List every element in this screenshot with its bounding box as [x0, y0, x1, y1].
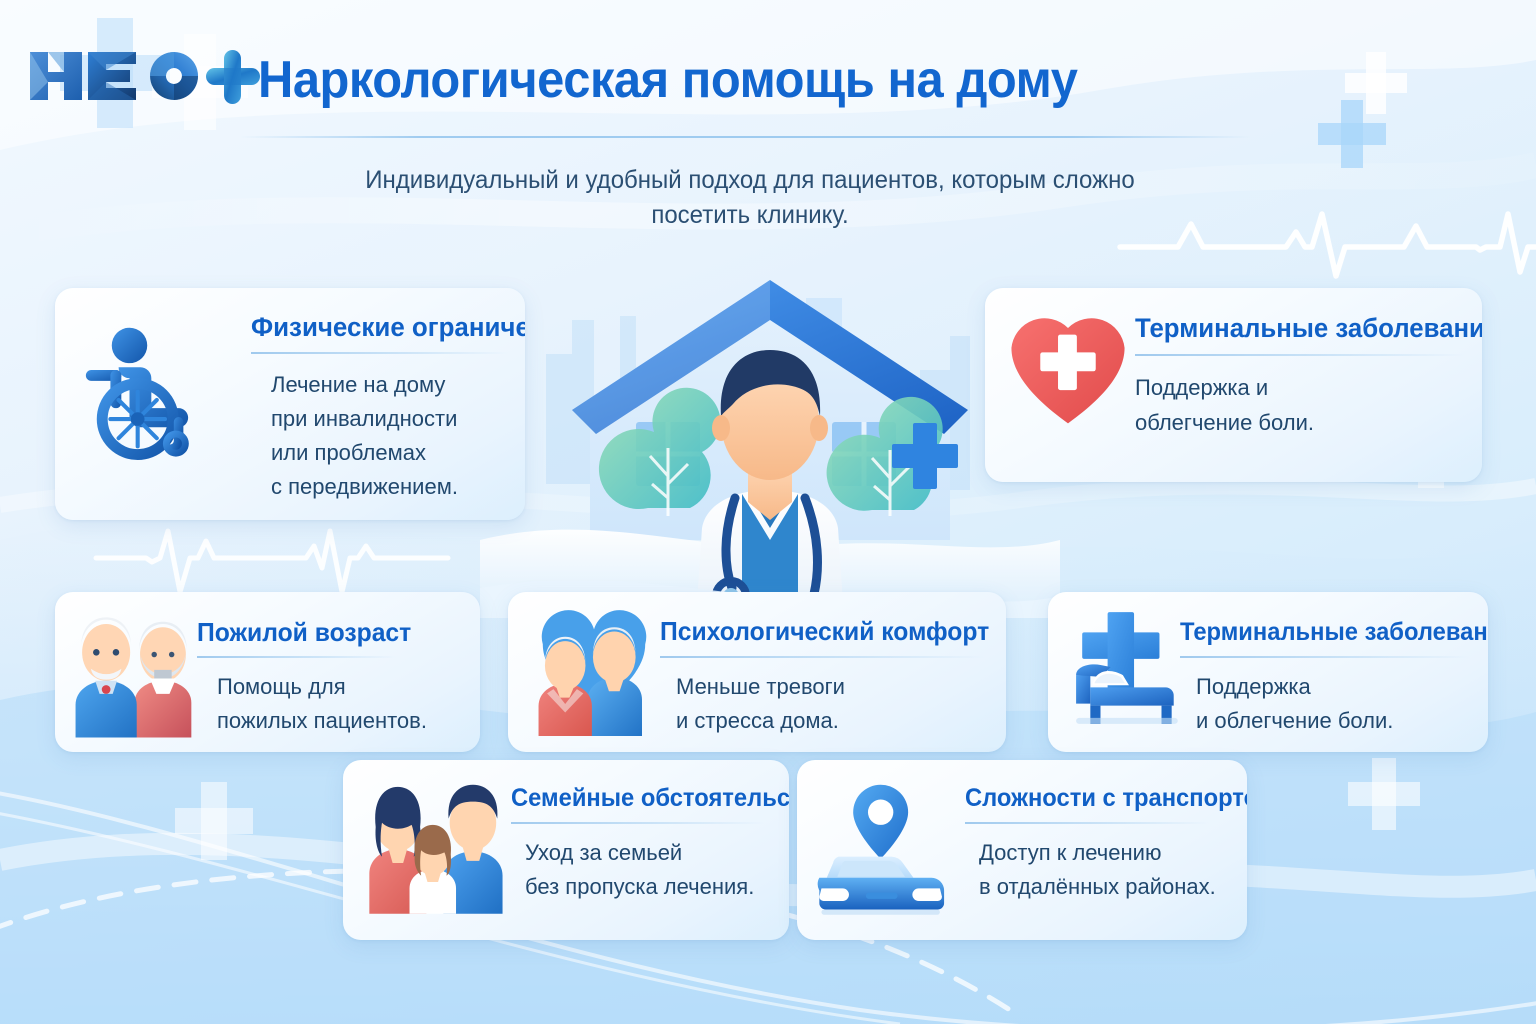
card-divider [197, 656, 397, 658]
page-title: Наркологическая помощь на дому [258, 50, 1077, 110]
card-body: Меньше тревоги и стресса дома. [676, 670, 845, 738]
card-title: Сложности с транспортом [965, 784, 1247, 813]
card-body: Лечение на дому при инвалидности или про… [271, 368, 458, 504]
elderly-couple-icon [69, 606, 211, 738]
card-divider [965, 822, 1209, 824]
hospital-bed-cross-icon [1070, 606, 1192, 730]
card-title: Терминальные заболевания [1180, 618, 1488, 647]
card-body: Поддержка и облегчение боли. [1135, 370, 1314, 440]
family-icon [363, 774, 511, 916]
card-divider [660, 656, 985, 658]
header-divider [240, 136, 1250, 138]
decor-cross-icon [1348, 758, 1420, 830]
wheelchair-icon [77, 310, 242, 460]
card-divider [251, 352, 509, 354]
card-title: Терминальные заболевания [1135, 313, 1482, 344]
card-title: Пожилой возраст [197, 617, 411, 648]
card-body: Помощь для пожилых пациентов. [217, 670, 427, 738]
card-family-circumstances[interactable]: Семейные обстоятельства Уход за семьей б… [343, 760, 789, 940]
card-psychological-comfort[interactable]: Психологический комфорт Меньше тревоги и… [508, 592, 1006, 752]
decor-cross-icon [175, 782, 253, 860]
card-terminal-illness-mid[interactable]: Терминальные заболевания Поддержка и обл… [1048, 592, 1488, 752]
card-elderly-age[interactable]: Пожилой возраст Помощь для пожилых пацие… [55, 592, 480, 752]
card-title: Семейные обстоятельства [511, 784, 789, 813]
card-divider [1180, 656, 1470, 658]
card-body: Поддержка и облегчение боли. [1196, 670, 1393, 738]
card-title: Психологический комфорт [660, 616, 989, 647]
card-divider [511, 822, 764, 824]
neo-plus-logo [24, 38, 264, 112]
heart-cross-icon [1007, 308, 1129, 430]
card-terminal-illness-top[interactable]: Терминальные заболевания Поддержка и обл… [985, 288, 1482, 482]
infographic-root: Наркологическая помощь на дому Индивидуа… [0, 0, 1536, 1024]
car-location-pin-icon [813, 774, 961, 916]
card-transport-difficulties[interactable]: Сложности с транспортом Доступ к лечению… [797, 760, 1247, 940]
card-body: Уход за семьей без пропуска лечения. [525, 836, 754, 904]
two-people-heart-icon [530, 606, 658, 738]
page-header: Наркологическая помощь на дому Индивидуа… [0, 0, 1536, 140]
card-physical-limitations[interactable]: Физические ограничения Лечение на дому п… [55, 288, 525, 520]
card-body: Доступ к лечению в отдалённых районах. [979, 836, 1216, 904]
page-subtitle: Индивидуальный и удобный подход для паци… [318, 163, 1182, 233]
card-divider [1135, 354, 1465, 356]
doctor-at-home-illustration [480, 258, 1060, 618]
card-title: Физические ограничения [251, 312, 525, 343]
